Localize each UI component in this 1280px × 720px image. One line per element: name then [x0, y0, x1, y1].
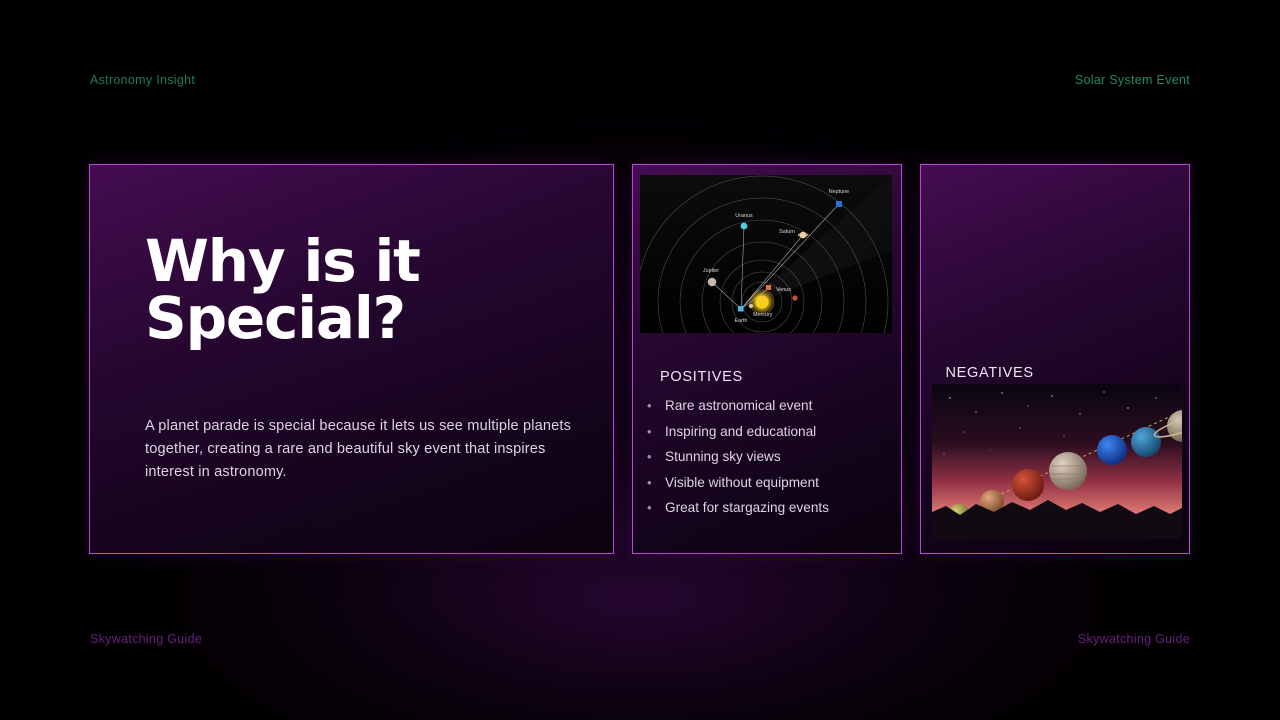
slide-header: Astronomy Insight Solar System Event: [90, 70, 1190, 90]
svg-text:Earth: Earth: [735, 318, 748, 324]
header-right-label: Solar System Event: [1075, 73, 1190, 87]
list-item: • Great for stargazing events: [647, 497, 891, 518]
cards-row: Why is it Special? A planet parade is sp…: [89, 164, 1190, 554]
positives-heading: POSITIVES: [660, 369, 743, 385]
list-item-label: Rare astronomical event: [665, 395, 891, 416]
page-title: Why is it Special?: [145, 233, 583, 347]
bullet-icon: •: [647, 395, 665, 416]
solar-system-orbit-diagram: Neptune Uranus Saturn Jupiter Venus Merc…: [640, 175, 892, 333]
footer-left-label: Skywatching Guide: [90, 632, 202, 646]
planet-parade-illustration: [932, 384, 1182, 539]
list-item-label: Inspiring and educational: [665, 421, 891, 442]
svg-text:Uranus: Uranus: [735, 213, 753, 219]
svg-text:Venus: Venus: [776, 287, 791, 293]
card-positives: Neptune Uranus Saturn Jupiter Venus Merc…: [632, 164, 902, 554]
header-left-label: Astronomy Insight: [90, 73, 195, 87]
slide-footer: Skywatching Guide Skywatching Guide: [90, 630, 1190, 648]
bullet-icon: •: [647, 421, 665, 442]
list-item-label: Visible without equipment: [665, 472, 891, 493]
list-item: • Stunning sky views: [647, 446, 891, 467]
bullet-icon: •: [647, 497, 665, 518]
planet-parade-svg: [932, 384, 1182, 539]
card-title: Why is it Special? A planet parade is sp…: [89, 164, 614, 554]
positives-list: • Rare astronomical event • Inspiring an…: [647, 395, 891, 523]
intro-paragraph: A planet parade is special because it le…: [145, 415, 577, 484]
page-title-line-2: Special?: [145, 290, 583, 347]
negatives-heading: NEGATIVES: [946, 365, 1034, 381]
list-item: • Rare astronomical event: [647, 395, 891, 416]
footer-right-label: Skywatching Guide: [1078, 632, 1190, 646]
slide-root: Astronomy Insight Solar System Event Why…: [0, 0, 1280, 720]
list-item: • Inspiring and educational: [647, 421, 891, 442]
svg-text:Jupiter: Jupiter: [703, 268, 719, 274]
list-item-label: Stunning sky views: [665, 446, 891, 467]
orbit-diagram-svg: Neptune Uranus Saturn Jupiter Venus Merc…: [640, 175, 892, 333]
svg-text:Saturn: Saturn: [779, 229, 795, 235]
list-item-label: Great for stargazing events: [665, 497, 891, 518]
page-title-line-1: Why is it: [145, 233, 583, 290]
card-negatives: NEGATIVES • Not visible everywhere • Som…: [920, 164, 1191, 554]
bullet-icon: •: [647, 446, 665, 467]
svg-text:Mercury: Mercury: [753, 312, 773, 318]
svg-text:Neptune: Neptune: [829, 189, 849, 195]
bullet-icon: •: [647, 472, 665, 493]
list-item: • Visible without equipment: [647, 472, 891, 493]
